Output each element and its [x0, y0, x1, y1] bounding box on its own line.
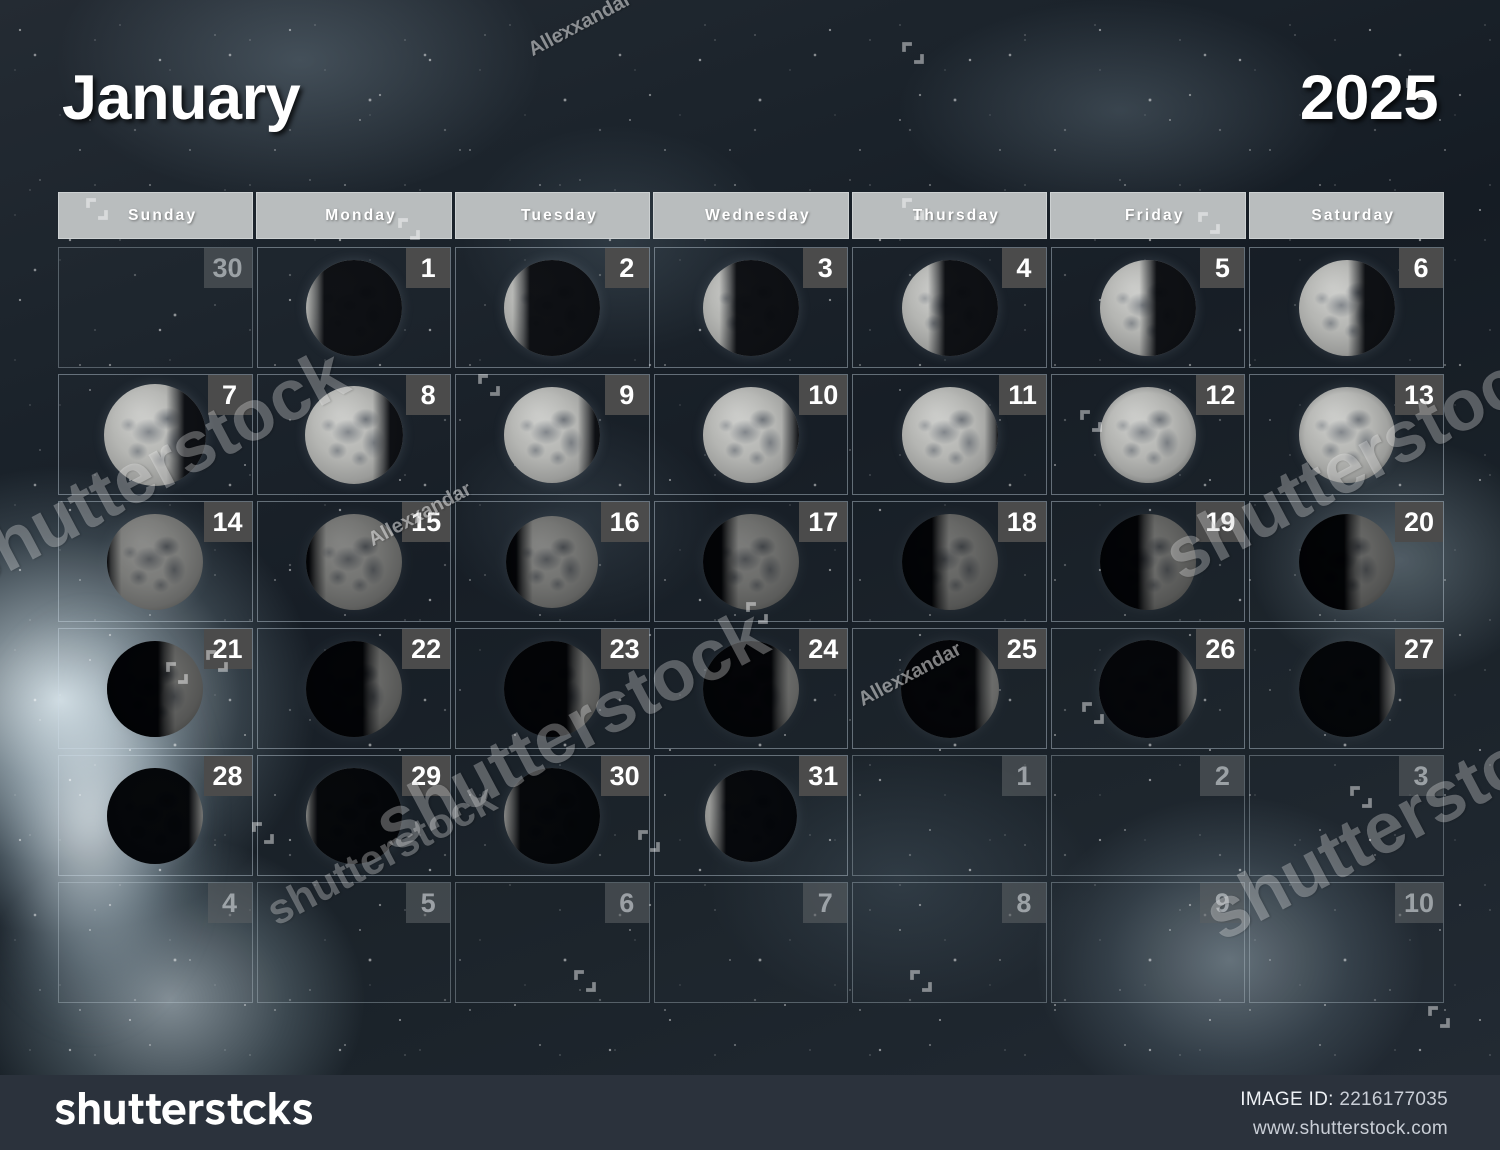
- day-header-tuesday: Tuesday: [455, 192, 650, 239]
- day-header-sunday: Sunday: [58, 192, 253, 239]
- calendar-day-cell[interactable]: 28: [58, 755, 253, 876]
- day-number-badge: 16: [601, 502, 649, 542]
- day-number-badge: 10: [799, 375, 847, 415]
- day-number-badge: 3: [1399, 756, 1443, 796]
- calendar-grid: SundayMondayTuesdayWednesdayThursdayFrid…: [58, 192, 1444, 1003]
- day-header-friday: Friday: [1050, 192, 1245, 239]
- calendar-week-row: 21222324252627: [58, 628, 1444, 749]
- calendar-day-cell[interactable]: 18: [852, 501, 1047, 622]
- day-number-badge: 14: [204, 502, 252, 542]
- calendar-canvas: January 2025 SundayMondayTuesdayWednesda…: [0, 0, 1500, 1150]
- day-number-badge: 20: [1395, 502, 1443, 542]
- calendar-week-row: 14151617181920: [58, 501, 1444, 622]
- calendar-day-cell[interactable]: 30: [455, 755, 650, 876]
- day-header-thursday: Thursday: [852, 192, 1047, 239]
- day-number-badge: 27: [1395, 629, 1443, 669]
- image-id-value: 2216177035: [1339, 1089, 1448, 1110]
- day-number-badge: 24: [799, 629, 847, 669]
- day-number-badge: 11: [999, 375, 1046, 415]
- footer-bar: IMAGE ID: 2216177035 www.shutterstock.co…: [0, 1075, 1500, 1150]
- calendar-day-cell[interactable]: 11: [852, 374, 1047, 495]
- day-number-badge: 10: [1395, 883, 1443, 923]
- day-number-badge: 19: [1196, 502, 1244, 542]
- shutterstock-url: www.shutterstock.com: [1253, 1118, 1448, 1140]
- day-number-badge: 7: [803, 883, 847, 923]
- calendar-day-cell[interactable]: 3: [654, 247, 849, 368]
- calendar-day-cell[interactable]: 7: [654, 882, 849, 1003]
- day-number-badge: 31: [799, 756, 847, 796]
- day-header-wednesday: Wednesday: [653, 192, 848, 239]
- calendar-day-cell[interactable]: 26: [1051, 628, 1246, 749]
- day-header-saturday: Saturday: [1249, 192, 1444, 239]
- calendar-day-cell[interactable]: 7: [58, 374, 253, 495]
- day-number-badge: 6: [1399, 248, 1443, 288]
- calendar-day-cell[interactable]: 12: [1051, 374, 1246, 495]
- calendar-day-cell[interactable]: 6: [1249, 247, 1444, 368]
- day-number-badge: 15: [402, 502, 450, 542]
- day-number-badge: 1: [406, 248, 450, 288]
- calendar-day-cell[interactable]: 15: [257, 501, 452, 622]
- calendar-day-cell[interactable]: 21: [58, 628, 253, 749]
- calendar-day-cell[interactable]: 30: [58, 247, 253, 368]
- day-number-badge: 6: [605, 883, 649, 923]
- calendar-day-cell[interactable]: 5: [1051, 247, 1246, 368]
- day-number-badge: 13: [1395, 375, 1443, 415]
- day-number-badge: 23: [601, 629, 649, 669]
- image-id-text: IMAGE ID: 2216177035: [1240, 1089, 1448, 1111]
- day-number-badge: 3: [803, 248, 847, 288]
- calendar-week-row: 45678910: [58, 882, 1444, 1003]
- calendar-day-cell[interactable]: 1: [852, 755, 1047, 876]
- day-number-badge: 25: [998, 629, 1046, 669]
- calendar-day-cell[interactable]: 2: [1051, 755, 1246, 876]
- calendar-day-cell[interactable]: 22: [257, 628, 452, 749]
- day-number-badge: 21: [204, 629, 252, 669]
- calendar-day-cell[interactable]: 9: [1051, 882, 1246, 1003]
- day-of-week-header-row: SundayMondayTuesdayWednesdayThursdayFrid…: [58, 192, 1444, 239]
- calendar-day-cell[interactable]: 2: [455, 247, 650, 368]
- calendar-day-cell[interactable]: 27: [1249, 628, 1444, 749]
- calendar-day-cell[interactable]: 31: [654, 755, 849, 876]
- calendar-day-cell[interactable]: 23: [455, 628, 650, 749]
- day-number-badge: 26: [1196, 629, 1244, 669]
- page-title-month: January: [62, 62, 300, 134]
- day-number-badge: 4: [208, 883, 252, 923]
- calendar-day-cell[interactable]: 16: [455, 501, 650, 622]
- calendar-day-cell[interactable]: 14: [58, 501, 253, 622]
- calendar-day-cell[interactable]: 5: [257, 882, 452, 1003]
- calendar-day-cell[interactable]: 25: [852, 628, 1047, 749]
- calendar-day-cell[interactable]: 29: [257, 755, 452, 876]
- calendar-day-cell[interactable]: 17: [654, 501, 849, 622]
- image-id-label: IMAGE ID:: [1240, 1089, 1334, 1110]
- day-number-badge: 17: [799, 502, 847, 542]
- day-number-badge: 1: [1002, 756, 1046, 796]
- day-number-badge: 5: [1200, 248, 1244, 288]
- day-number-badge: 5: [406, 883, 450, 923]
- page-title-year: 2025: [1300, 62, 1438, 134]
- calendar-day-cell[interactable]: 24: [654, 628, 849, 749]
- calendar-day-cell[interactable]: 1: [257, 247, 452, 368]
- day-number-badge: 8: [1002, 883, 1046, 923]
- day-number-badge: 9: [605, 375, 649, 415]
- day-number-badge: 2: [1200, 756, 1244, 796]
- day-number-badge: 8: [406, 375, 450, 415]
- day-number-badge: 4: [1002, 248, 1046, 288]
- calendar-week-row: 30123456: [58, 247, 1444, 368]
- day-number-badge: 30: [601, 756, 649, 796]
- calendar-day-cell[interactable]: 4: [852, 247, 1047, 368]
- day-number-badge: 12: [1196, 375, 1244, 415]
- calendar-week-row: 28293031123: [58, 755, 1444, 876]
- day-number-badge: 22: [402, 629, 450, 669]
- calendar-day-cell[interactable]: 10: [1249, 882, 1444, 1003]
- day-header-monday: Monday: [256, 192, 451, 239]
- shutterstock-logo: [52, 1092, 313, 1132]
- day-number-badge: 18: [998, 502, 1046, 542]
- calendar-day-cell[interactable]: 13: [1249, 374, 1444, 495]
- calendar-day-cell[interactable]: 19: [1051, 501, 1246, 622]
- calendar-day-cell[interactable]: 9: [455, 374, 650, 495]
- day-number-badge: 28: [204, 756, 252, 796]
- day-number-badge: 2: [605, 248, 649, 288]
- calendar-day-cell[interactable]: 20: [1249, 501, 1444, 622]
- day-number-badge: 9: [1200, 883, 1244, 923]
- calendar-day-cell[interactable]: 6: [455, 882, 650, 1003]
- calendar-day-cell[interactable]: 8: [257, 374, 452, 495]
- calendar-day-cell[interactable]: 10: [654, 374, 849, 495]
- calendar-day-cell[interactable]: 3: [1249, 755, 1444, 876]
- calendar-week-row: 78910111213: [58, 374, 1444, 495]
- calendar-day-cell[interactable]: 4: [58, 882, 253, 1003]
- day-number-badge: 7: [208, 375, 252, 415]
- day-number-badge: 29: [402, 756, 450, 796]
- calendar-day-cell[interactable]: 8: [852, 882, 1047, 1003]
- day-number-badge: 30: [204, 248, 252, 288]
- calendar-week-rows: 3012345678910111213141516171819202122232…: [58, 247, 1444, 1003]
